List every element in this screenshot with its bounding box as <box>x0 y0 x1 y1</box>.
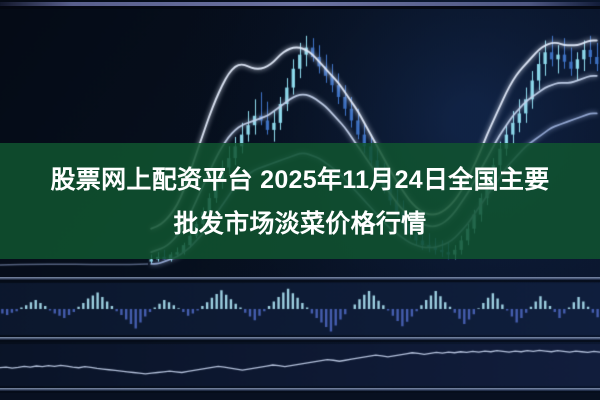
banner-title-line-1: 股票网上配资平台 2025年11月24日全国主要 <box>51 158 550 202</box>
title-overlay-band: 股票网上配资平台 2025年11月24日全国主要 批发市场淡菜价格行情 <box>0 143 600 259</box>
banner-image: 股票网上配资平台 2025年11月24日全国主要 批发市场淡菜价格行情 <box>0 0 600 400</box>
panel-divider-price-macd-shadow <box>0 280 600 282</box>
panel-divider-bottom-shadow <box>0 391 600 393</box>
top-rail-shadow <box>0 6 600 9</box>
panel-divider-macd-oscillator-shadow <box>0 340 600 342</box>
banner-title-line-2: 批发市场淡菜价格行情 <box>173 202 426 246</box>
